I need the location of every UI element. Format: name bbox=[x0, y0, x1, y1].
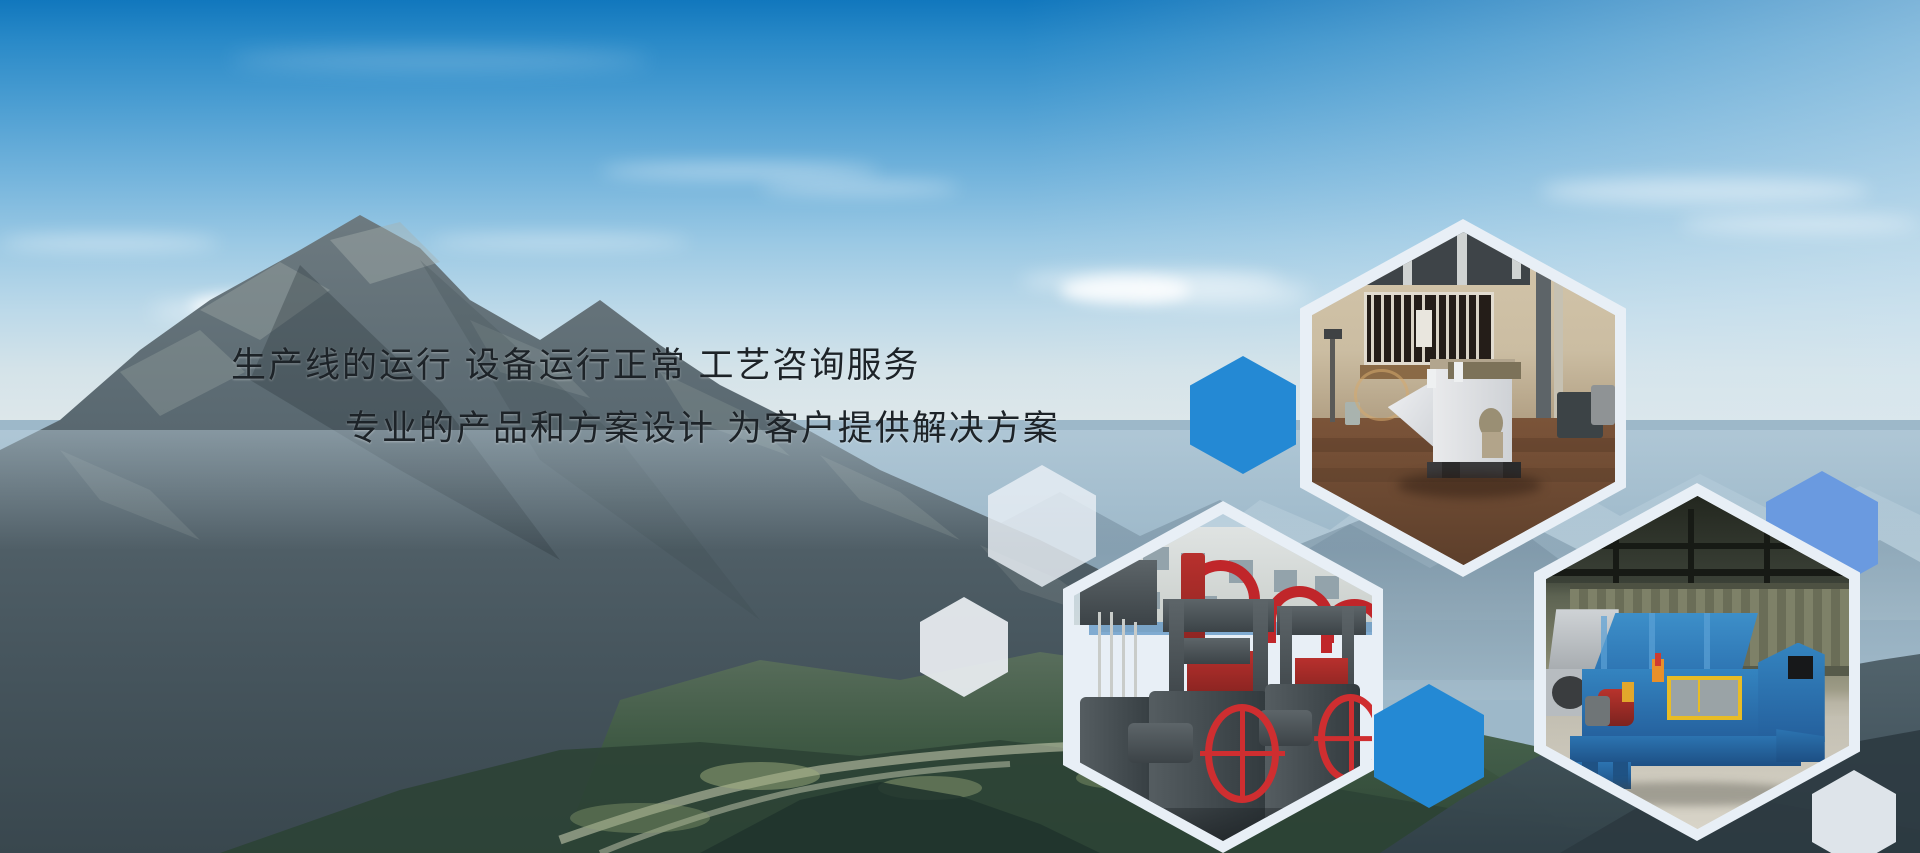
headline-line-1: 生产线的运行 设备运行正常 工艺咨询服务 bbox=[231, 337, 920, 388]
handwheel-icon bbox=[1205, 704, 1279, 803]
hero-banner: 生产线的运行 设备运行正常 工艺咨询服务 专业的产品和方案设计 为客户提供解决方… bbox=[0, 0, 1920, 853]
headline-line-2: 专业的产品和方案设计 为客户提供解决方案 bbox=[345, 400, 1060, 451]
